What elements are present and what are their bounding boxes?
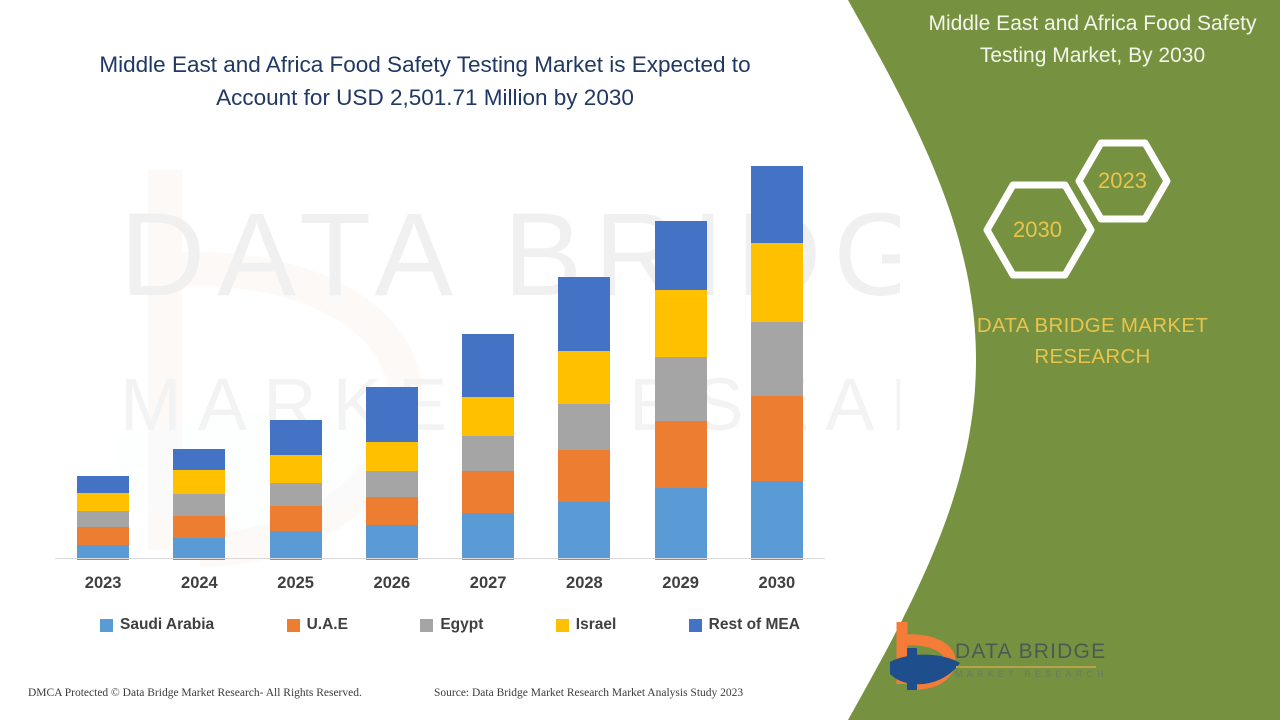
bar-segment [366,497,418,526]
bar-segment [751,322,803,396]
plot-area [55,150,825,560]
bar-column [729,166,825,560]
brand-panel-content: Middle East and Africa Food Safety Testi… [905,0,1280,720]
footer-copyright: DMCA Protected © Data Bridge Market Rese… [28,687,362,699]
x-axis-tick-label: 2029 [633,574,729,593]
stacked-bar [462,334,514,560]
legend-label: U.A.E [307,616,348,634]
bar-segment [558,450,610,502]
logo-divider [956,666,1096,668]
bar-segment [558,277,610,351]
legend-item[interactable]: Egypt [420,616,483,634]
axis-baseline [55,558,825,559]
x-axis-tick-label: 2023 [55,574,151,593]
stacked-bar [655,221,707,560]
bar-segment [751,481,803,560]
brand-name-line-1: DATA BRIDGE MARKET [915,310,1270,341]
chart-panel: DATA BRIDGE MARKET RESEARCH Middle East … [0,0,900,720]
bar-segment [751,396,803,481]
brand-panel-title: Middle East and Africa Food Safety Testi… [905,8,1280,72]
bar-group [55,150,825,560]
bar-segment [366,387,418,442]
bar-segment [173,516,225,538]
stacked-bar [270,420,322,560]
bar-segment [462,397,514,436]
x-axis-tick-label: 2028 [536,574,632,593]
bar-segment [751,243,803,322]
data-bridge-logo-text: DATA BRIDGE MARKET RESEARCH [955,640,1108,679]
bar-segment [270,506,322,531]
brand-name: DATA BRIDGE MARKET RESEARCH [915,310,1270,372]
bar-column [536,277,632,560]
bar-column [344,387,440,560]
bar-segment [366,442,418,472]
logo-main-text: DATA BRIDGE [955,640,1108,664]
stacked-bar [558,277,610,560]
bar-segment [77,493,129,511]
legend-label: Saudi Arabia [120,616,214,634]
bar-segment [77,527,129,545]
bar-segment [558,502,610,560]
stacked-bar [751,166,803,560]
legend-label: Egypt [440,616,483,634]
footer-source: Source: Data Bridge Market Research Mark… [434,687,743,699]
stacked-bar [173,449,225,560]
bar-segment [173,494,225,515]
legend-label: Rest of MEA [709,616,800,634]
bar-segment [655,221,707,290]
legend-item[interactable]: Rest of MEA [689,616,800,634]
stacked-bar [366,387,418,560]
bar-segment [173,538,225,560]
bar-segment [751,166,803,243]
bar-column [633,221,729,560]
legend-color-swatch [689,619,702,632]
bar-segment [558,404,610,451]
bar-segment [270,420,322,455]
legend-item[interactable]: U.A.E [287,616,348,634]
legend-item[interactable]: Israel [556,616,617,634]
legend-color-swatch [420,619,433,632]
bar-segment [655,290,707,358]
page-title: Middle East and Africa Food Safety Testi… [60,48,790,114]
hexagon-badges: 2030 2023 [905,130,1280,300]
bar-column [248,420,344,560]
chart-legend: Saudi ArabiaU.A.EEgyptIsraelRest of MEA [100,616,800,634]
bar-segment [173,470,225,494]
bar-column [55,476,151,560]
bar-segment [366,471,418,496]
x-axis-tick-label: 2026 [344,574,440,593]
hexagon-2023-label: 2023 [1098,168,1147,194]
bar-segment [462,334,514,398]
logo-sub-text: MARKET RESEARCH [955,669,1108,679]
legend-color-swatch [556,619,569,632]
bar-column [151,449,247,560]
legend-item[interactable]: Saudi Arabia [100,616,214,634]
hexagon-2030-label: 2030 [1013,217,1062,243]
bar-segment [655,421,707,488]
bar-segment [173,449,225,470]
bar-segment [462,436,514,471]
stacked-bar [77,476,129,560]
bar-segment [655,357,707,420]
legend-color-swatch [100,619,113,632]
x-axis-tick-label: 2025 [248,574,344,593]
x-axis-tick-label: 2027 [440,574,536,593]
bar-segment [77,511,129,527]
x-axis-labels: 20232024202520262027202820292030 [55,574,825,593]
brand-name-line-2: RESEARCH [915,341,1270,372]
bar-segment [270,531,322,560]
bar-segment [462,513,514,560]
bar-segment [77,476,129,494]
bar-segment [558,351,610,404]
bar-segment [270,455,322,482]
bar-segment [655,488,707,560]
x-axis-tick-label: 2030 [729,574,825,593]
bar-segment [462,471,514,513]
bar-column [440,334,536,560]
legend-label: Israel [576,616,617,634]
bar-segment [366,525,418,560]
legend-color-swatch [287,619,300,632]
x-axis-tick-label: 2024 [151,574,247,593]
bar-segment [270,483,322,506]
